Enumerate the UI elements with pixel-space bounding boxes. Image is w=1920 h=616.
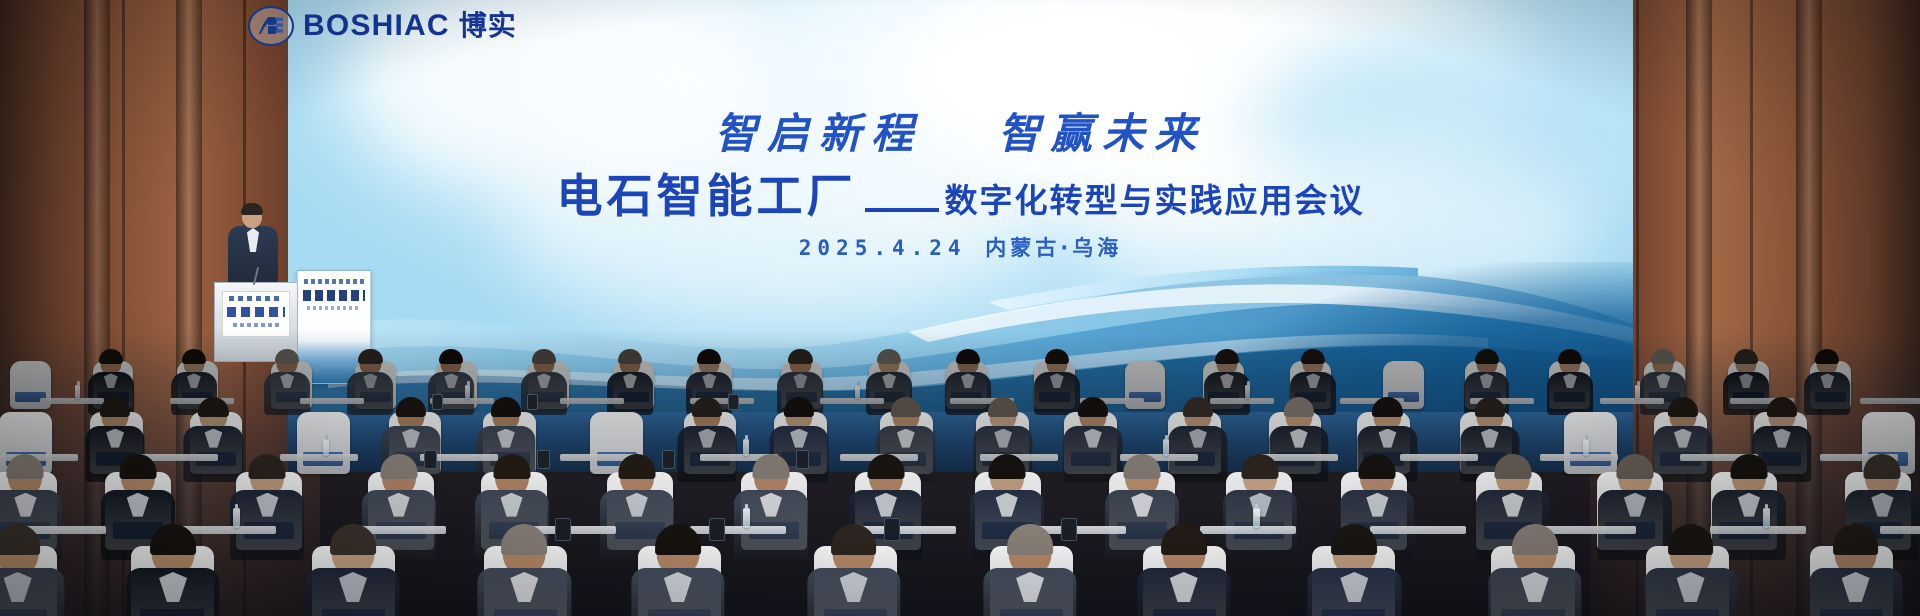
screen-subheadline: 数字化转型与实践应用会议 <box>945 174 1365 222</box>
person-hair <box>1078 397 1108 417</box>
person-hair <box>532 349 556 364</box>
person-hair <box>7 454 44 479</box>
person-hair <box>330 524 376 555</box>
audience-person <box>1487 526 1583 616</box>
screen-tagline-right: 智赢未来 <box>998 109 1206 158</box>
person-hair <box>618 349 642 364</box>
audience-person <box>0 526 66 616</box>
person-hair <box>1651 349 1675 364</box>
boshiac-wordmark: BOSHIAC <box>303 11 450 41</box>
podium-sign-line-top <box>229 296 283 301</box>
person-hair <box>249 454 286 479</box>
podium-sign-title <box>227 307 285 317</box>
person-hair <box>1242 454 1279 479</box>
person-hair <box>1474 349 1498 364</box>
person-hair <box>1284 397 1314 417</box>
audience-person <box>606 351 653 415</box>
person-hair <box>1475 397 1505 417</box>
speaker-hair <box>241 203 263 215</box>
screen-title-row: 电石智能工厂 数字化转型与实践应用会议 <box>288 160 1633 226</box>
person-hair <box>119 454 156 479</box>
person-hair <box>618 454 655 479</box>
boshiac-logo: BOSHIAC 博实 <box>248 6 517 46</box>
person-hair <box>1558 349 1582 364</box>
raised-phone <box>1061 518 1077 541</box>
person-hair <box>1668 524 1714 555</box>
person-hair <box>1359 454 1396 479</box>
raised-phone <box>527 394 538 410</box>
person-hair <box>1864 454 1901 479</box>
person-hair <box>1215 349 1239 364</box>
audience-person <box>1808 526 1904 616</box>
audience-person <box>229 456 305 560</box>
person-hair <box>1183 397 1213 417</box>
water-bottle <box>465 385 470 399</box>
audience-person <box>1547 351 1594 415</box>
person-hair <box>100 397 130 417</box>
water-bottle <box>743 508 750 528</box>
raised-phone <box>432 394 443 410</box>
audience-person <box>305 526 401 616</box>
raised-phone <box>662 450 675 469</box>
person-hair <box>1617 454 1654 479</box>
person-hair <box>1045 349 1069 364</box>
person-hair <box>788 349 812 364</box>
audience-area <box>0 330 1920 616</box>
person-hair <box>493 454 530 479</box>
conference-photo: 智启新程 智赢未来 电石智能工厂 数字化转型与实践应用会议 2025.4.24 … <box>0 0 1920 616</box>
water-bottle <box>233 508 240 528</box>
person-hair <box>1161 524 1207 555</box>
boshiac-emblem-icon <box>248 6 294 46</box>
person-hair <box>0 524 41 555</box>
person-hair <box>1833 524 1879 555</box>
table-edge <box>560 398 624 404</box>
person-hair <box>1815 349 1839 364</box>
water-bottle <box>75 385 80 399</box>
rollup-title <box>303 290 365 301</box>
person-hair <box>396 397 426 417</box>
water-bottle <box>1253 508 1260 528</box>
audience-person <box>125 526 221 616</box>
person-hair <box>439 349 463 364</box>
screen-tagline-left: 智启新程 <box>715 109 923 158</box>
person-hair <box>867 454 904 479</box>
person-hair <box>1767 397 1797 417</box>
rollup-subtitle <box>307 306 361 310</box>
person-hair <box>182 349 206 364</box>
person-hair <box>831 524 877 555</box>
water-bottle <box>855 385 860 399</box>
raised-phone <box>424 450 437 469</box>
person-hair <box>380 454 417 479</box>
screen-tagline: 智启新程 智赢未来 <box>288 100 1633 161</box>
water-bottle <box>1763 508 1770 528</box>
raised-phone <box>884 518 900 541</box>
person-hair <box>1734 349 1758 364</box>
screen-dateline: 2025.4.24 内蒙古·乌海 <box>288 232 1633 262</box>
audience-person <box>677 399 738 482</box>
person-hair <box>697 349 721 364</box>
raised-phone <box>796 450 809 469</box>
person-hair <box>1007 524 1053 555</box>
person-hair <box>1668 397 1698 417</box>
audience-person <box>1136 526 1232 616</box>
person-hair <box>1512 524 1558 555</box>
rollup-tagline <box>304 279 364 284</box>
person-hair <box>655 524 701 555</box>
person-hair <box>956 349 980 364</box>
screen-headline: 电石智能工厂 <box>557 160 857 226</box>
person-hair <box>752 454 789 479</box>
person-hair <box>1372 397 1402 417</box>
person-hair <box>491 397 521 417</box>
person-hair <box>988 397 1018 417</box>
table-edge <box>1860 398 1920 404</box>
water-bottle <box>1245 385 1250 399</box>
screen-title-dash <box>865 208 939 212</box>
audience-person <box>1306 526 1402 616</box>
table-edge <box>300 398 364 404</box>
person-hair <box>1301 349 1325 364</box>
water-bottle <box>743 439 749 456</box>
person-hair <box>1331 524 1377 555</box>
raised-phone <box>537 450 550 469</box>
podium-sign-subtitle <box>233 323 279 327</box>
person-hair <box>150 524 196 555</box>
person-hair <box>501 524 547 555</box>
water-bottle <box>323 439 329 456</box>
audience-person <box>1222 456 1298 560</box>
screen-location: 内蒙古·乌海 <box>985 236 1122 260</box>
person-hair <box>784 397 814 417</box>
person-hair <box>877 349 901 364</box>
person-hair <box>692 397 722 417</box>
person-hair <box>988 454 1025 479</box>
water-bottle <box>1583 439 1589 456</box>
screen-date: 2025.4.24 <box>799 236 967 260</box>
raised-phone <box>728 394 739 410</box>
table-edge <box>820 398 884 404</box>
person-hair <box>99 349 123 364</box>
audience-person <box>1643 526 1739 616</box>
audience-person <box>264 351 311 415</box>
boshiac-chinese-name: 博实 <box>459 12 517 40</box>
water-bottle <box>1163 439 1169 456</box>
person-hair <box>1494 454 1531 479</box>
raised-phone <box>709 518 725 541</box>
raised-phone <box>555 518 571 541</box>
person-hair <box>275 349 299 364</box>
person-hair <box>1124 454 1161 479</box>
person-hair <box>1731 454 1768 479</box>
water-bottle <box>1635 385 1640 399</box>
person-hair <box>198 397 228 417</box>
person-hair <box>891 397 921 417</box>
person-hair <box>358 349 382 364</box>
